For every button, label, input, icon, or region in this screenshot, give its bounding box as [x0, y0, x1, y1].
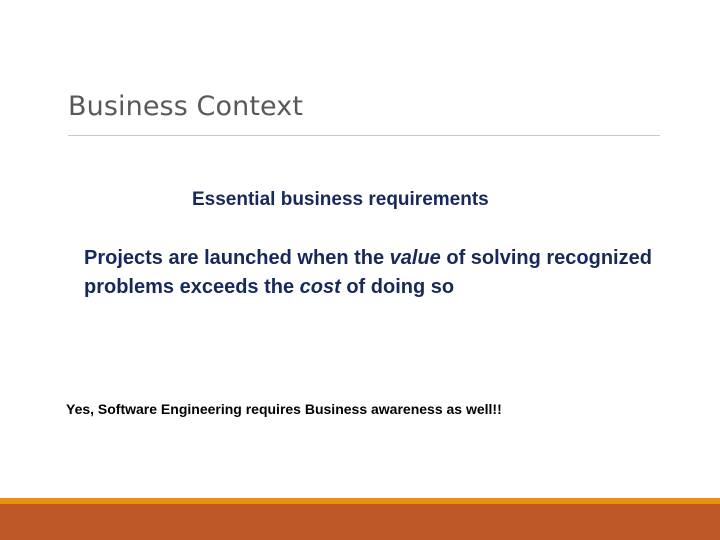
- footer-main-band: [0, 504, 720, 540]
- title-divider: [68, 135, 660, 136]
- paragraph-emphasis-cost: cost: [300, 276, 341, 298]
- slide-canvas: Business Context Essential business requ…: [0, 0, 720, 540]
- slide-content-body: Essential business requirements Projects…: [0, 188, 720, 302]
- paragraph-emphasis-value: value: [390, 247, 441, 269]
- lead-paragraph: Projects are launched when the value of …: [0, 244, 720, 302]
- footnote-text: Yes, Software Engineering requires Busin…: [66, 400, 686, 418]
- paragraph-segment-3: of doing so: [341, 276, 454, 298]
- page-title: Business Context: [68, 90, 660, 124]
- lead-heading: Essential business requirements: [0, 188, 720, 212]
- paragraph-segment-1: Projects are launched when the: [84, 247, 390, 269]
- slide-title-block: Business Context: [68, 90, 660, 136]
- footer-decorative-bar: [0, 498, 720, 540]
